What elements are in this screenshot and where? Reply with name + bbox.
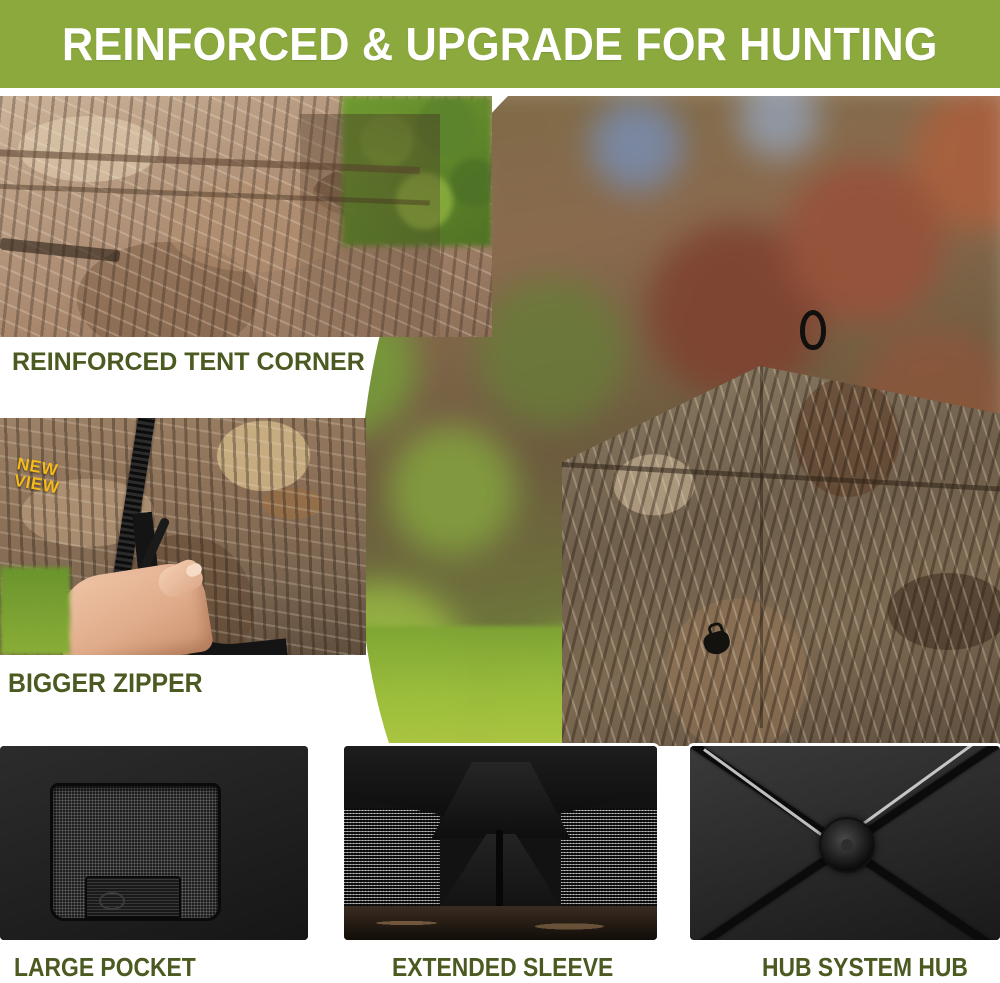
hub-center-disc — [819, 817, 875, 873]
panel-reinforced-tent-corner — [0, 96, 492, 337]
tent-camo-body — [562, 366, 1000, 746]
banner-title: REINFORCED & UPGRADE FOR HUNTING — [62, 17, 938, 71]
camo-floor — [344, 906, 657, 940]
panel-bigger-zipper: NEW VIEW — [0, 418, 366, 655]
label-reinforced-tent-corner: REINFORCED TENT CORNER — [12, 348, 365, 377]
reinforced-corner-edge — [300, 114, 440, 337]
grass-foreground — [0, 567, 70, 655]
panel-hub-system-hub — [690, 746, 1000, 940]
panel-large-pocket — [0, 746, 308, 940]
mesh-pocket — [50, 783, 221, 921]
label-hub-system-hub: HUB SYSTEM HUB — [762, 952, 968, 983]
header-banner: REINFORCED & UPGRADE FOR HUNTING — [0, 0, 1000, 88]
ground-blind-tent — [562, 332, 1000, 746]
panel-extended-sleeve — [344, 746, 657, 940]
tent-ridge — [760, 366, 763, 728]
tent-top-loop-icon — [800, 310, 826, 350]
grommet-icon — [99, 892, 125, 910]
mesh-sub-pocket — [85, 876, 181, 918]
label-large-pocket: LARGE POCKET — [14, 952, 196, 983]
label-bigger-zipper: BIGGER ZIPPER — [8, 668, 203, 699]
label-extended-sleeve: EXTENDED SLEEVE — [392, 952, 613, 983]
